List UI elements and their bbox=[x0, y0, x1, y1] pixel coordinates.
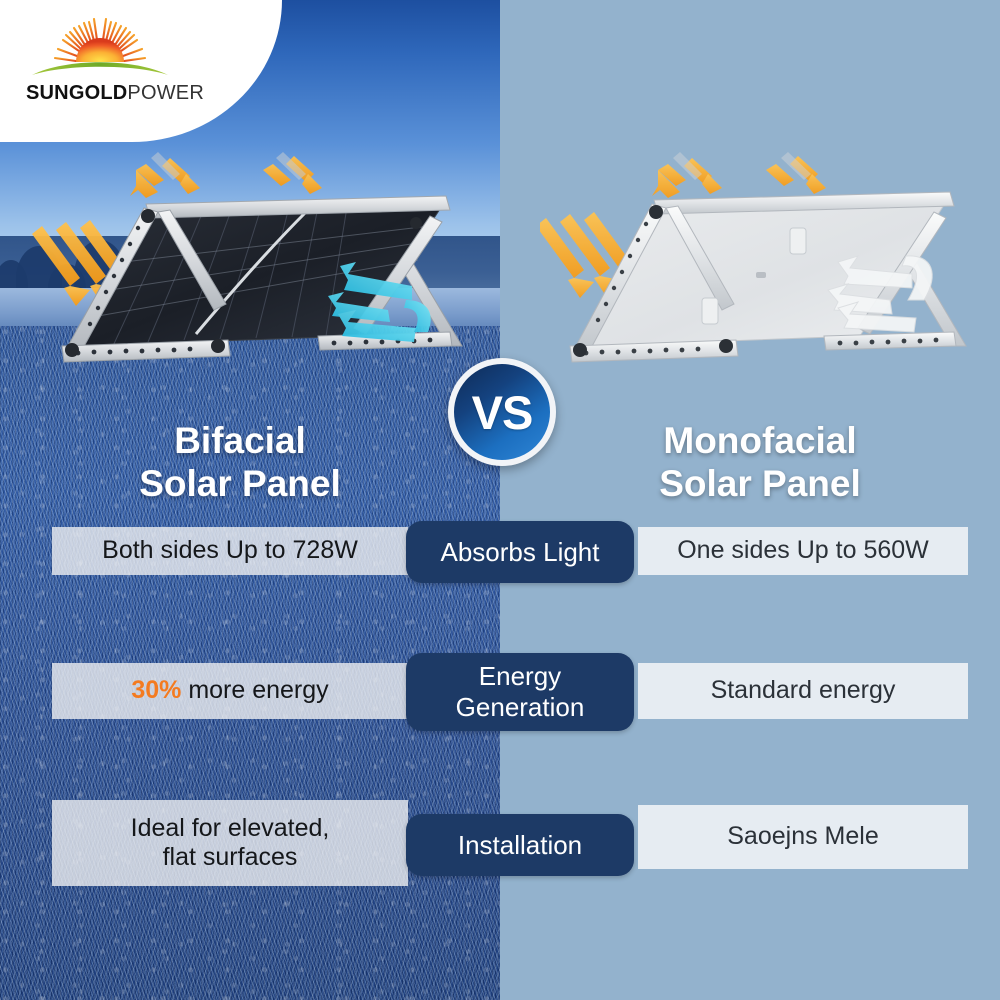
row1-left-value: Both sides Up to 728W bbox=[52, 527, 408, 575]
row1-feature-label: Absorbs Light bbox=[406, 521, 634, 583]
vs-label: VS bbox=[472, 389, 533, 436]
row3-left-line1: Ideal for elevated, bbox=[131, 814, 330, 844]
row3-left-value: Ideal for elevated, flat surfaces bbox=[52, 800, 408, 886]
vs-badge: VS bbox=[448, 358, 556, 466]
row2-highlight-value: 30% bbox=[131, 676, 181, 704]
row3-feature-label: Installation bbox=[406, 814, 634, 876]
row2-feature-line1: Energy bbox=[456, 661, 585, 692]
row2-left-rest: more energy bbox=[181, 676, 328, 704]
row3-right-value: Saoejns Mele bbox=[638, 805, 968, 869]
comparison-table: Both sides Up to 728W Absorbs Light One … bbox=[0, 0, 1000, 1000]
comparison-row: 30% more energy Energy Generation Standa… bbox=[0, 653, 1000, 733]
row2-feature-line2: Generation bbox=[456, 692, 585, 723]
row2-feature-label: Energy Generation bbox=[406, 653, 634, 731]
comparison-row: Both sides Up to 728W Absorbs Light One … bbox=[0, 527, 1000, 587]
row2-right-value: Standard energy bbox=[638, 663, 968, 719]
comparison-row: Ideal for elevated, flat surfaces Instal… bbox=[0, 800, 1000, 892]
row2-left-value: 30% more energy bbox=[52, 663, 408, 719]
infographic-canvas: VS Bifacial Solar Panel Monofacial Solar… bbox=[0, 0, 1000, 1000]
row3-left-line2: flat surfaces bbox=[131, 843, 330, 873]
row1-right-value: One sides Up to 560W bbox=[638, 527, 968, 575]
